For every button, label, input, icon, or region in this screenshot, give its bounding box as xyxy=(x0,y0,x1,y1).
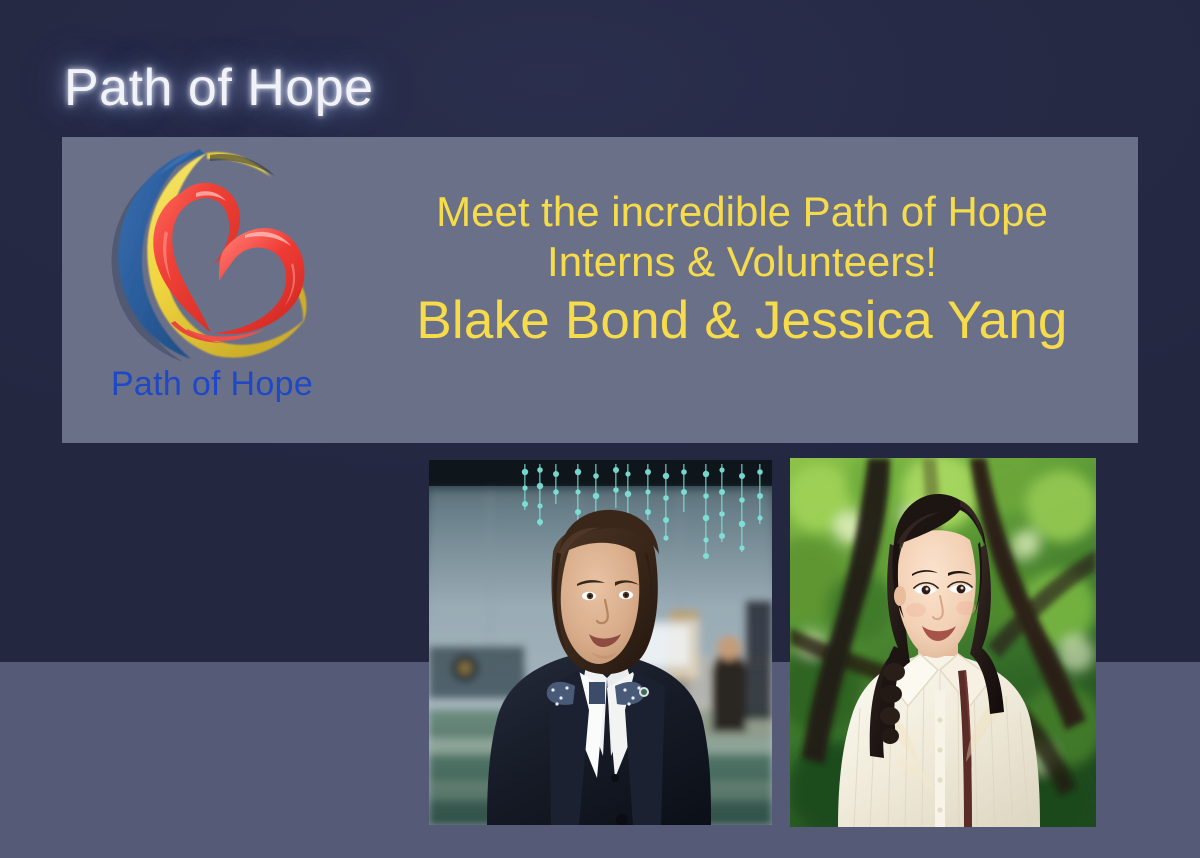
blake-bond-photo xyxy=(429,460,772,825)
headline-line-2: Interns & Volunteers! xyxy=(547,237,937,287)
headline-line-3: Blake Bond & Jessica Yang xyxy=(416,290,1067,353)
slide-canvas: Path of Hope xyxy=(0,0,1200,858)
path-of-hope-heart-logo-icon xyxy=(95,143,335,371)
page-title: Path of Hope xyxy=(64,58,374,118)
headline-line-1: Meet the incredible Path of Hope xyxy=(436,187,1048,237)
banner-panel: Path of Hope Meet the incredible Path of… xyxy=(62,137,1138,443)
jessica-yang-photo xyxy=(790,458,1096,827)
headline-block: Meet the incredible Path of Hope Interns… xyxy=(362,137,1138,443)
logo-block: Path of Hope xyxy=(62,137,362,443)
